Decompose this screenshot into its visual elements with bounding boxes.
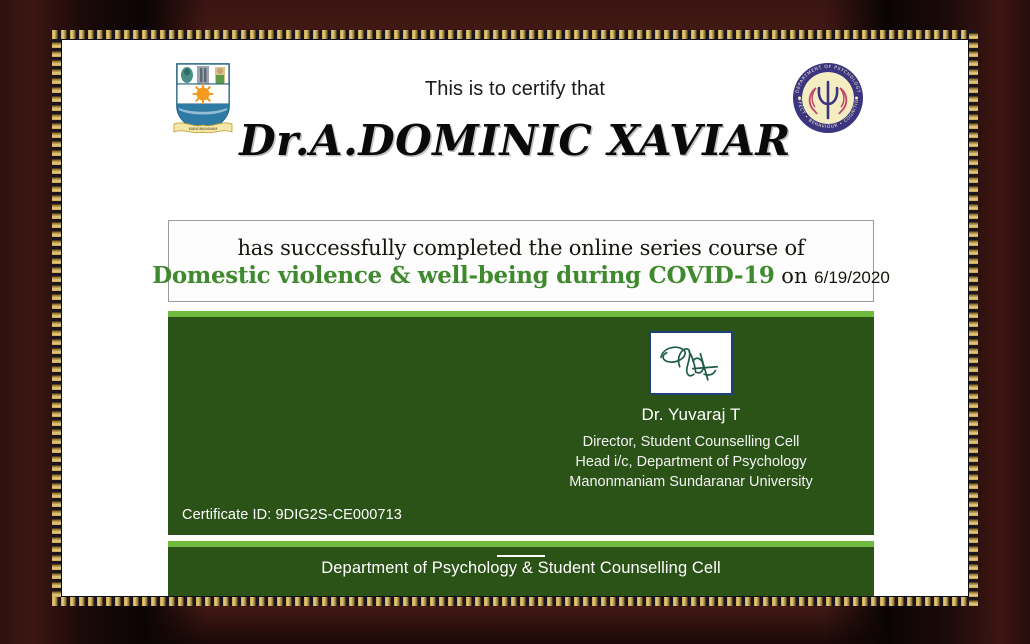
bead-right-rail [969, 30, 978, 606]
picture-frame: MANONMANIAM [0, 0, 1030, 644]
signature-panel: Dr. Yuvaraj T Director, Student Counsell… [168, 311, 874, 535]
course-title: Domestic violence & well-being during CO… [152, 262, 774, 289]
footer-department-line: Department of Psychology & Student Couns… [168, 559, 874, 578]
footer-divider-rule [497, 555, 545, 557]
course-on-word: on [781, 264, 807, 288]
course-date: 6/19/2020 [814, 268, 890, 287]
certificate-footer: Department of Psychology & Student Couns… [168, 541, 874, 596]
signer-role-line-3: Manonmaniam Sundaranar University [516, 472, 866, 492]
signature-image [649, 331, 733, 395]
course-lead-text: has successfully completed the online se… [237, 236, 804, 260]
certificate-sheet: MANONMANIAM [62, 40, 968, 596]
signer-role-line-2: Head i/c, Department of Psychology [516, 452, 866, 472]
certify-line: This is to certify that [62, 78, 968, 101]
signer-role-line-1: Director, Student Counselling Cell [516, 432, 866, 452]
signer-name: Dr. Yuvaraj T [516, 405, 866, 425]
signature-block: Dr. Yuvaraj T Director, Student Counsell… [516, 331, 866, 492]
certificate-id: Certificate ID: 9DIG2S-CE000713 [182, 507, 402, 523]
course-title-row: Domestic violence & well-being during CO… [152, 264, 890, 287]
signer-roles: Director, Student Counselling Cell Head … [516, 432, 866, 492]
recipient-name: Dr.A.DOMINIC XAVIAR [62, 116, 968, 165]
gold-bead-inner-lip: MANONMANIAM [52, 30, 978, 606]
course-details-box: has successfully completed the online se… [168, 220, 874, 302]
